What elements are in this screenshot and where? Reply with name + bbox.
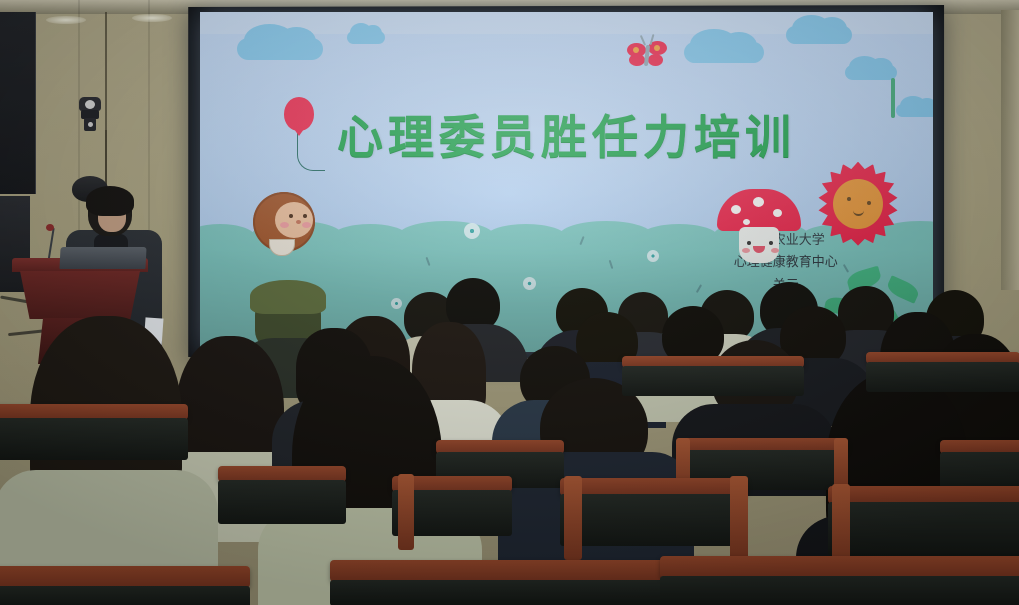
sunflower-icon [816,162,900,246]
subtitle-line-speaker: 关元 [734,275,838,298]
small-flower-icon [464,223,480,239]
small-flower-icon [391,298,402,309]
slide-canvas: 心理委员胜任力培训 河南农业大学 心理健康教育中心 关元 [200,12,933,352]
cloud-icon [845,65,897,80]
lecture-hall-scene: 心理委员胜任力培训 河南农业大学 心理健康教育中心 关元 [0,0,1019,605]
cloud-icon [347,31,385,44]
door-frame [1001,10,1019,290]
cloud-icon [684,42,764,63]
cloud-icon [237,38,323,60]
mushroom-icon [717,189,801,261]
cloud-icon [786,26,852,44]
ceiling-light [132,14,172,22]
ptz-camera-icon [79,97,101,131]
small-flower-icon [523,277,536,290]
wall-dark-panel [0,12,36,194]
podium [12,258,148,358]
microphone-icon [46,224,54,231]
projection-screen: 心理委员胜任力培训 河南农业大学 心理健康教育中心 关元 [200,12,933,352]
hedgehog-icon [253,192,315,252]
balloon-icon [284,97,314,131]
balloon-string [297,131,325,171]
butterfly-icon [625,39,669,71]
ceiling-light [46,16,86,24]
laptop-icon [59,247,146,269]
